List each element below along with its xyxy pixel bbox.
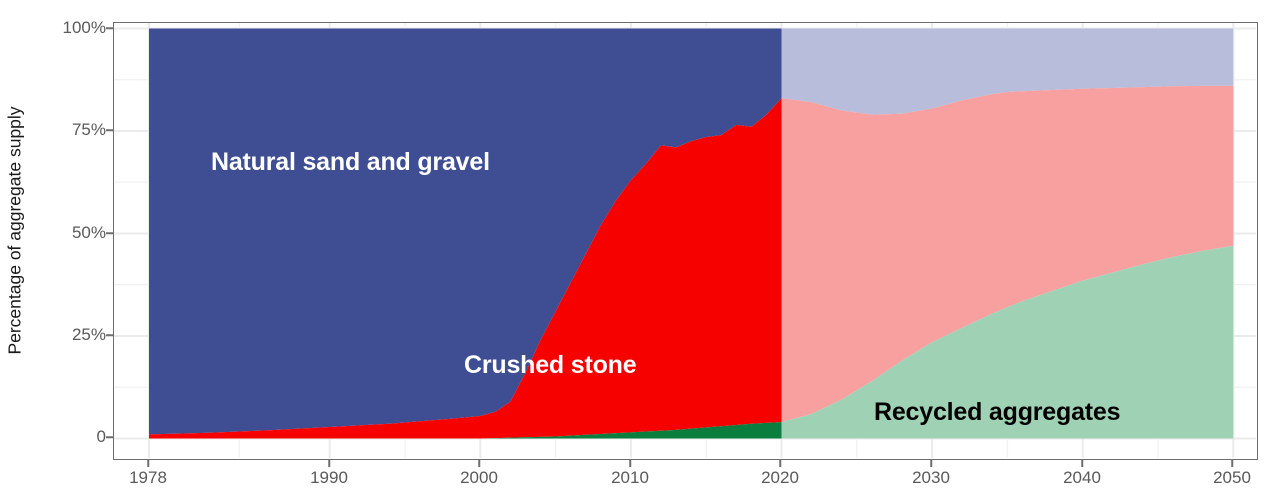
plot-svg	[114, 23, 1256, 458]
x-tick-label-2040: 2040	[1063, 468, 1101, 488]
y-tick-label-50: 50%	[40, 223, 106, 243]
series-label-recycled-aggregates: Recycled aggregates	[874, 398, 1120, 427]
x-tick-mark-1978	[147, 460, 149, 467]
x-tick-mark-2050	[1231, 460, 1233, 467]
y-tick-mark-25	[106, 334, 113, 336]
series-label-crushed-stone: Crushed stone	[464, 351, 636, 380]
y-tick-mark-100	[106, 27, 113, 29]
y-tick-label-25: 25%	[40, 325, 106, 345]
x-tick-mark-2030	[930, 460, 932, 467]
y-tick-mark-50	[106, 232, 113, 234]
x-tick-mark-2010	[629, 460, 631, 467]
x-tick-label-2030: 2030	[912, 468, 950, 488]
y-tick-mark-0	[106, 436, 113, 438]
plot-panel: Natural sand and gravel Crushed stone Re…	[113, 22, 1258, 460]
x-tick-mark-2020	[779, 460, 781, 467]
y-tick-label-100: 100%	[40, 18, 106, 38]
y-tick-label-75: 75%	[40, 120, 106, 140]
stacked-areas	[149, 29, 1233, 439]
x-tick-mark-2040	[1081, 460, 1083, 467]
x-tick-label-1978: 1978	[129, 468, 167, 488]
y-axis-title-text: Percentage of aggregate supply	[5, 106, 26, 354]
y-axis-tick-labels: 100% 75% 50% 25% 0	[34, 0, 106, 495]
y-tick-mark-75	[106, 129, 113, 131]
x-tick-label-2000: 2000	[460, 468, 498, 488]
y-tick-label-0: 0	[40, 427, 106, 447]
x-tick-label-2050: 2050	[1213, 468, 1251, 488]
x-tick-label-1990: 1990	[310, 468, 348, 488]
series-label-natural-sand-and-gravel: Natural sand and gravel	[211, 148, 490, 177]
x-tick-mark-1990	[328, 460, 330, 467]
aggregate-supply-area-chart: Percentage of aggregate supply 100% 75% …	[0, 0, 1269, 495]
x-tick-label-2010: 2010	[611, 468, 649, 488]
y-axis-title: Percentage of aggregate supply	[0, 0, 30, 460]
x-tick-label-2020: 2020	[761, 468, 799, 488]
x-tick-mark-2000	[478, 460, 480, 467]
